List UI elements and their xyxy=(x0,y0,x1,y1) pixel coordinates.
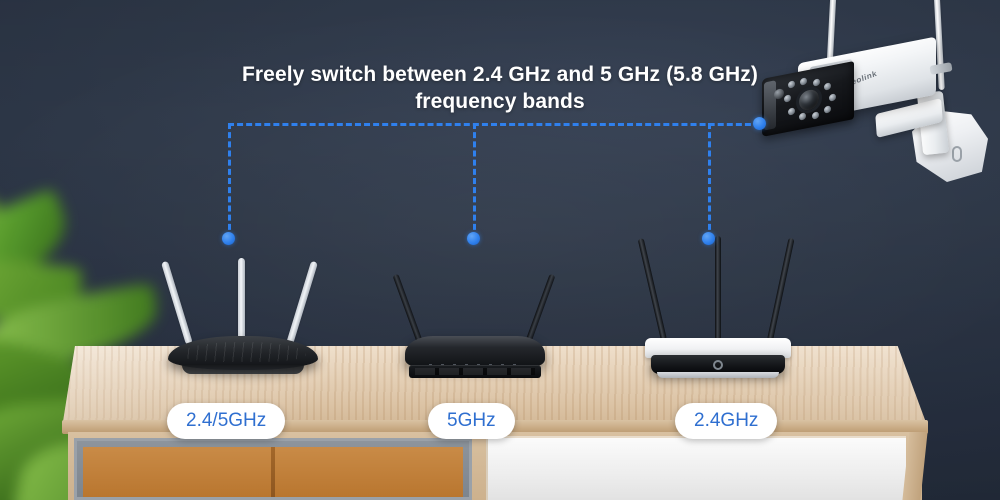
router-base xyxy=(182,365,304,374)
router-antenna xyxy=(238,258,245,344)
router-5ghz xyxy=(405,256,545,384)
router-base xyxy=(657,372,779,378)
headline-line-1: Freely switch between 2.4 GHz and 5 GHz … xyxy=(140,62,860,89)
router-body xyxy=(405,336,545,366)
router-antenna xyxy=(286,261,318,345)
cabinet-panel-left xyxy=(74,438,472,500)
badge-dual-band: 2.4/5GHz xyxy=(167,403,285,439)
router-dual-band xyxy=(168,252,318,384)
promo-scene: reolink Freely switch between 2.4 GHz an… xyxy=(0,0,1000,500)
router-antenna xyxy=(715,236,721,340)
headline-line-2: frequency bands xyxy=(140,89,860,116)
cabinet-panel-split xyxy=(271,447,275,497)
router-status-ring-icon xyxy=(713,360,723,370)
router-antenna xyxy=(767,238,794,341)
router-front-vent xyxy=(409,365,541,378)
page-title: Freely switch between 2.4 GHz and 5 GHz … xyxy=(140,62,860,116)
badge-24ghz: 2.4GHz xyxy=(675,403,777,439)
router-24ghz xyxy=(645,236,791,386)
badge-5ghz: 5GHz xyxy=(428,403,515,439)
cabinet-panel-right xyxy=(486,436,906,500)
camera-mount-screw xyxy=(952,146,962,162)
